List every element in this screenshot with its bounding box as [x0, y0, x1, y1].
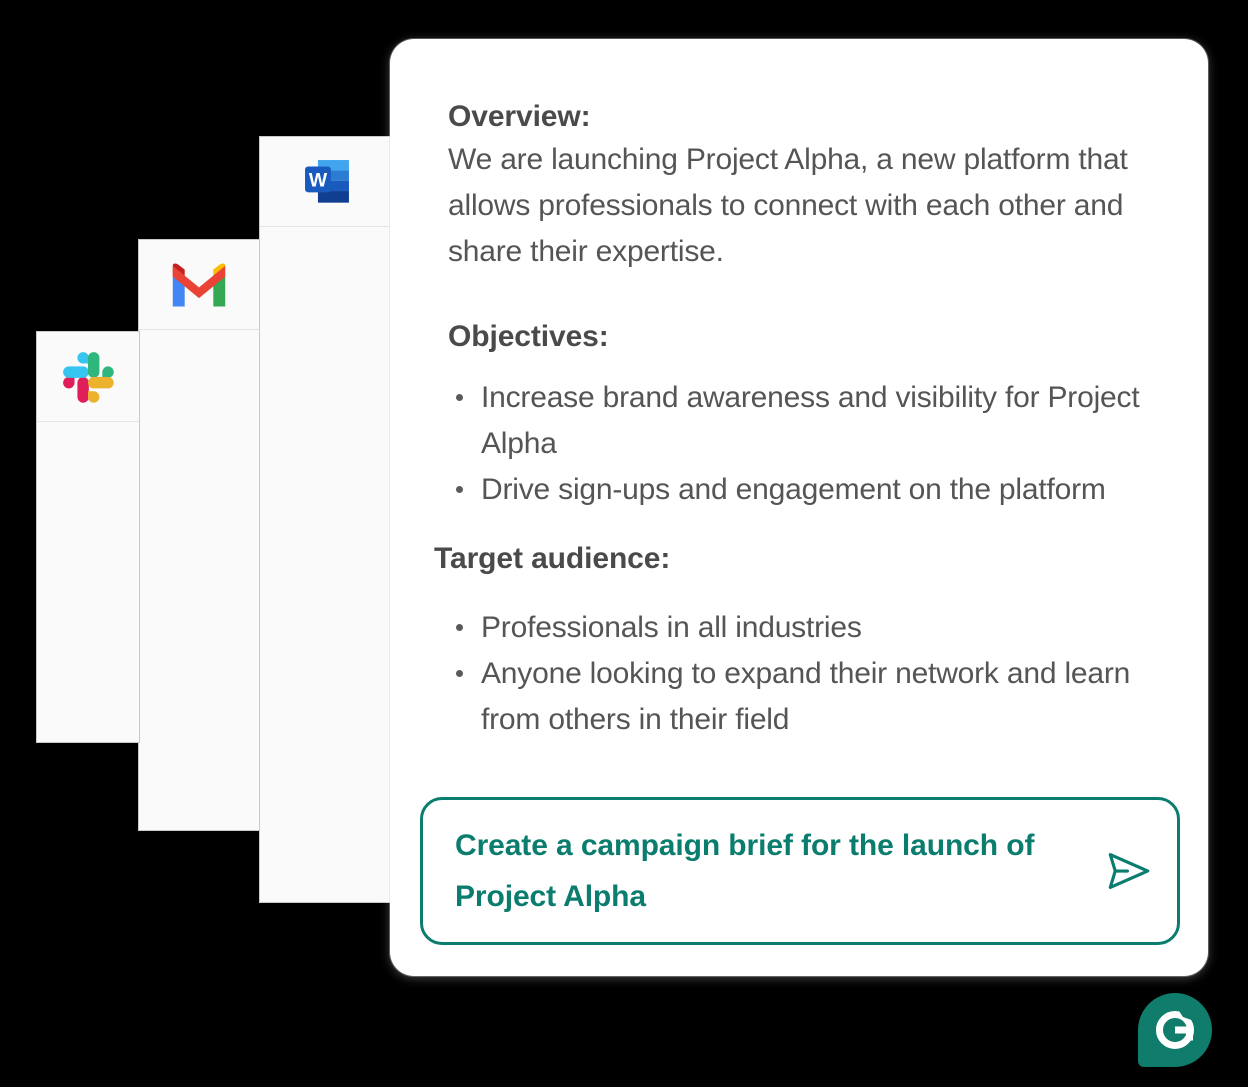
grammarly-logo: [1138, 993, 1212, 1067]
prompt-input[interactable]: Create a campaign brief for the launch o…: [423, 820, 1081, 922]
campaign-brief-panel: Overview: We are launching Project Alpha…: [390, 39, 1208, 976]
list-item: Professionals in all industries: [448, 605, 1152, 651]
app-card-gmail[interactable]: [138, 239, 260, 831]
document-content: Overview: We are launching Project Alpha…: [390, 39, 1208, 743]
spacer: [448, 357, 1152, 375]
overview-heading: Overview:: [448, 97, 1152, 137]
microsoft-word-icon: W: [296, 151, 358, 213]
target-audience-list: Professionals in all industries Anyone l…: [448, 605, 1152, 743]
app-card-gmail-header: [139, 240, 259, 330]
list-item: Increase brand awareness and visibility …: [448, 375, 1152, 467]
app-card-word-header: W: [260, 137, 393, 227]
gmail-icon: [168, 261, 230, 309]
overview-body: We are launching Project Alpha, a new pl…: [448, 137, 1152, 275]
list-item: Drive sign-ups and engagement on the pla…: [448, 467, 1152, 513]
objectives-list: Increase brand awareness and visibility …: [448, 375, 1152, 513]
send-icon: [1104, 846, 1154, 896]
app-card-word[interactable]: W: [259, 136, 394, 903]
spacer: [448, 579, 1152, 605]
spacer: [448, 275, 1152, 317]
app-card-word-body: [260, 227, 393, 902]
spacer: [448, 513, 1152, 539]
app-card-slack[interactable]: [36, 331, 140, 743]
slack-icon: [60, 349, 116, 405]
target-audience-heading: Target audience:: [434, 539, 1152, 579]
send-button[interactable]: [1081, 846, 1177, 896]
app-card-slack-body: [37, 422, 139, 742]
app-card-slack-header: [37, 332, 139, 422]
list-item: Anyone looking to expand their network a…: [448, 651, 1152, 743]
objectives-heading: Objectives:: [448, 317, 1152, 357]
svg-text:W: W: [308, 169, 327, 191]
prompt-input-box[interactable]: Create a campaign brief for the launch o…: [420, 797, 1180, 945]
app-card-gmail-body: [139, 330, 259, 830]
